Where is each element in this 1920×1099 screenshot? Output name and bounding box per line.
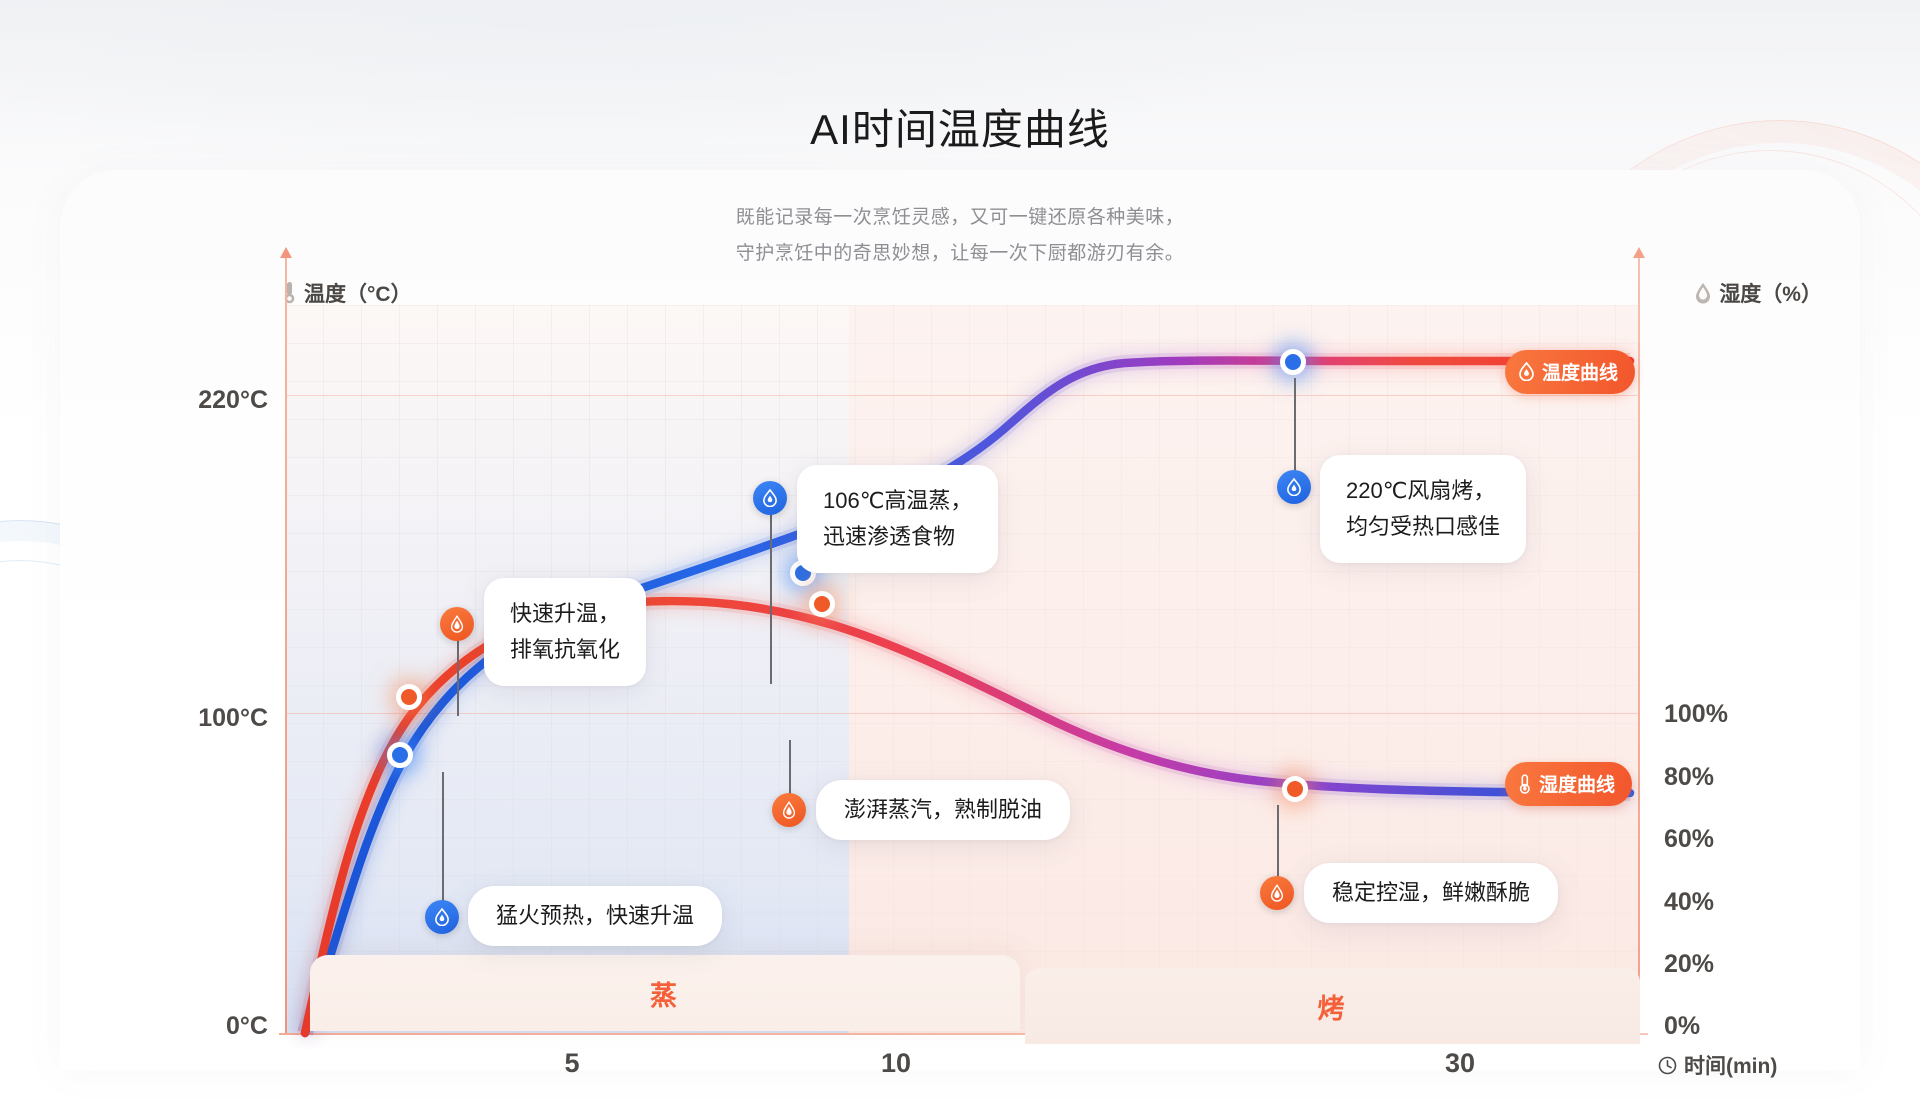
x-tick-5: 5 [512,1048,632,1079]
x-tick-10: 10 [836,1048,956,1079]
phase-label-bake: 烤 [1025,968,1640,1044]
y2-tick-40: 40% [1664,888,1824,917]
y2-tick-80: 80% [1664,763,1824,792]
leader-line-steam106 [770,508,772,684]
droplet-icon [449,615,465,633]
left-axis-caption: 温度（°C） [282,278,412,308]
right-axis-caption-label: 湿度（%） [1719,278,1822,308]
callout-ramp-line2: 排氧抗氧化 [510,632,620,668]
flame-icon [434,908,450,926]
callout-icon-steampower[interactable] [772,793,806,827]
x-tick-30: 30 [1400,1048,1520,1079]
marker-humidity-ramp[interactable] [396,684,422,710]
marker-humidity-steam[interactable] [809,591,835,617]
page-title: AI时间温度曲线 [0,96,1920,157]
callout-steampower: 澎湃蒸汽，熟制脱油 [816,780,1070,840]
callout-steam106: 106℃高温蒸， 迅速渗透食物 [797,465,998,573]
left-axis-caption-label: 温度（°C） [304,278,412,308]
y2-tick-0: 0% [1664,1012,1824,1041]
y-tick-0: 0°C [108,1012,268,1041]
callout-preheat-line1: 猛火预热，快速升温 [496,900,694,932]
leader-line-ramp [457,634,459,716]
y2-tick-60: 60% [1664,825,1824,854]
callout-steampower-line1: 澎湃蒸汽，熟制脱油 [844,794,1042,826]
y-tick-220: 220°C [108,386,268,415]
x-axis-caption-label: 时间(min) [1684,1050,1777,1080]
leader-line-preheat [442,772,444,912]
legend-temperature-label: 温度曲线 [1542,358,1618,385]
legend-temperature[interactable]: 温度曲线 [1505,350,1635,394]
callout-icon-preheat[interactable] [425,900,459,934]
callout-bake220-line1: 220℃风扇烤， [1346,473,1500,509]
callout-preheat: 猛火预热，快速升温 [468,886,722,946]
y2-tick-20: 20% [1664,950,1824,979]
x-axis-caption: 时间(min) [1658,1050,1777,1080]
flame-icon [762,489,778,507]
leader-line-bake220 [1294,378,1296,480]
flame-icon [1286,478,1302,496]
legend-humidity[interactable]: 湿度曲线 [1505,762,1632,806]
subtitle-line-1: 既能记录每一次烹饪灵感，又可一键还原各种美味， [0,200,1920,236]
page-subtitle: 既能记录每一次烹饪灵感，又可一键还原各种美味， 守护烹饪中的奇思妙想，让每一次下… [0,200,1920,272]
y-tick-100: 100°C [108,704,268,733]
marker-humidity-stable[interactable] [1282,776,1308,802]
callout-bake220-line2: 均匀受热口感佳 [1346,509,1500,545]
callout-steam106-line2: 迅速渗透食物 [823,519,972,555]
callout-bake220: 220℃风扇烤， 均匀受热口感佳 [1320,455,1526,563]
flame-icon [1518,362,1535,381]
legend-humidity-label: 湿度曲线 [1539,770,1615,797]
callout-ramp-line1: 快速升温， [510,596,620,632]
clock-icon [1658,1056,1677,1075]
callout-icon-ramp[interactable] [440,607,474,641]
callout-humidity: 稳定控湿，鲜嫩酥脆 [1304,863,1558,923]
callout-icon-steam106[interactable] [753,481,787,515]
page-root: AI时间温度曲线 既能记录每一次烹饪灵感，又可一键还原各种美味， 守护烹饪中的奇… [0,0,1920,1099]
droplet-icon [1269,884,1285,902]
leader-line-humidity [1277,805,1279,887]
marker-temperature-preheat[interactable] [387,742,413,768]
callout-steam106-line1: 106℃高温蒸， [823,483,972,519]
y2-tick-100: 100% [1664,700,1824,729]
droplet-icon [781,801,797,819]
marker-temperature-220[interactable] [1280,349,1306,375]
thermometer-icon [1518,774,1532,794]
phase-label-steam: 蒸 [310,955,1020,1031]
callout-humidity-line1: 稳定控湿，鲜嫩酥脆 [1332,877,1530,909]
callout-icon-humidity[interactable] [1260,876,1294,910]
right-axis-caption: 湿度（%） [1694,278,1822,308]
droplet-icon [1694,282,1712,304]
callout-ramp: 快速升温， 排氧抗氧化 [484,578,646,686]
callout-icon-bake220[interactable] [1277,470,1311,504]
